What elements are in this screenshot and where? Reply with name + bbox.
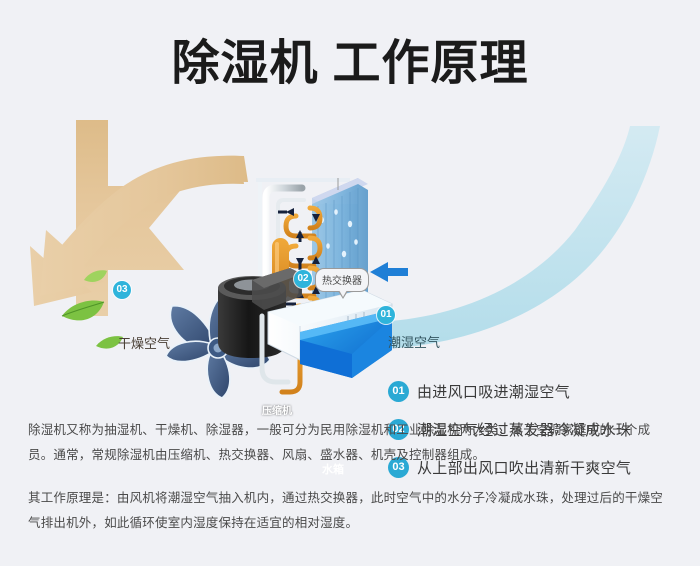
inlet-arrow-icon <box>370 262 408 282</box>
legend-badge-01: 01 <box>388 381 409 402</box>
dry-air-label: 干燥空气 <box>118 333 170 352</box>
diagram-badge-01: 01 <box>377 306 395 324</box>
diagram-badge-03: 03 <box>113 281 131 299</box>
page-title-part1: 除湿机 <box>171 37 318 90</box>
humid-air-label: 潮湿空气 <box>388 332 440 351</box>
heat-exchanger-label: 热交换器 <box>322 276 362 287</box>
heat-exchanger-callout: 热交换器 <box>315 268 369 292</box>
paragraph-2: 其工作原理是：由风机将潮湿空气抽入机内，通过热交换器，此时空气中的水分子冷凝成水… <box>28 486 674 536</box>
dry-air-arrow-icon <box>30 120 248 316</box>
legend-text-01: 由进风口吸进潮湿空气 <box>417 381 570 402</box>
paragraph-1: 除湿机又称为抽湿机、干燥机、除湿器，一般可分为民用除湿机和工业除湿机两大类，属于… <box>28 418 674 468</box>
page-title: 除湿机工作原理 <box>0 34 700 94</box>
page-title-part2: 工作原理 <box>333 37 529 90</box>
description-block: 除湿机又称为抽湿机、干燥机、除湿器，一般可分为民用除湿机和工业除湿机两大类，属于… <box>28 418 674 536</box>
infographic-page: 除湿机工作原理 <box>0 0 700 566</box>
dehumidifier-diagram: 03 02 01 热交换器 干燥空气 潮湿空气 压缩机 水箱 01 由进风口吸进… <box>0 120 700 410</box>
compressor-label: 压缩机 <box>262 402 292 417</box>
legend-item-01: 01 由进风口吸进潮湿空气 <box>388 372 688 410</box>
diagram-badge-02: 02 <box>294 270 312 288</box>
diagram-artwork <box>0 120 700 410</box>
callout-tail-icon <box>338 291 348 299</box>
